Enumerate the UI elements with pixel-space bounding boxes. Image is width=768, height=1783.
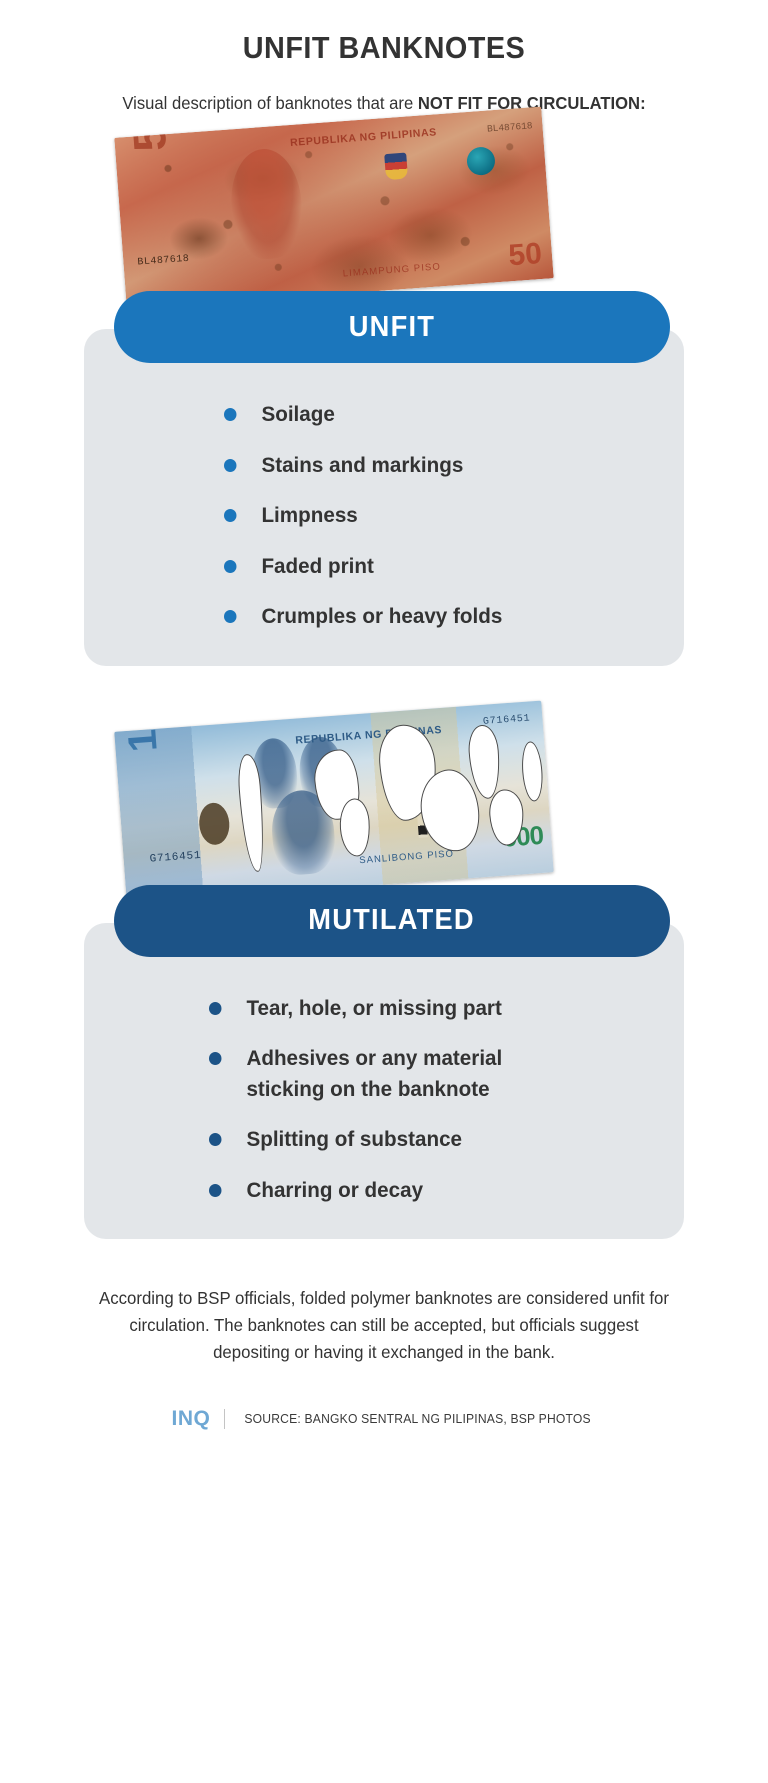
mutilated-card: MUTILATED Tear, hole, or missing part Ad…	[84, 923, 684, 1240]
list-item-label: Limpness	[261, 500, 357, 531]
list-item-label: Soilage	[261, 399, 334, 430]
source-row: INQ SOURCE: BANGKO SENTRAL NG PILIPINAS,…	[84, 1407, 684, 1431]
list-item: Stains and markings	[224, 450, 666, 481]
tear-hole	[488, 788, 526, 846]
list-item-label: Crumples or heavy folds	[261, 601, 502, 632]
list-item: Soilage	[224, 399, 666, 430]
tear-hole	[338, 797, 372, 857]
banknote-serial-left: G716451	[149, 849, 202, 865]
header: UNFIT BANKNOTES Visual description of ba…	[0, 0, 768, 114]
list-item: Crumples or heavy folds	[224, 601, 666, 632]
mutilated-banner: MUTILATED	[114, 885, 670, 957]
list-item-label: Splitting of substance	[246, 1124, 462, 1155]
list-item-label: Charring or decay	[246, 1175, 423, 1206]
banknote-serial-right: BL487618	[487, 120, 533, 134]
banknote-serial-right: G716451	[483, 713, 531, 727]
banknote-denomination-word: LIMAMPUNG PISO	[342, 261, 441, 279]
unfit-banner-label: UNFIT	[349, 311, 435, 344]
mutilated-banner-label: MUTILATED	[309, 904, 475, 937]
security-oval-icon	[198, 801, 231, 845]
bullet-icon	[224, 408, 236, 421]
list-item: Adhesives or any material sticking on th…	[209, 1043, 526, 1104]
unfit-list: Soilage Stains and markings Limpness Fad…	[84, 399, 684, 632]
portrait-illustration	[228, 147, 306, 262]
list-item-label: Faded print	[261, 551, 373, 582]
soiled-fifty-peso-banknote-image: 50 REPUBLIKA NG PILIPINAS BL487618 BL487…	[114, 107, 553, 310]
list-item: Charring or decay	[209, 1175, 665, 1206]
list-item: Limpness	[224, 500, 666, 531]
footnote-text: According to BSP officials, folded polym…	[96, 1285, 672, 1366]
list-item: Faded print	[224, 551, 666, 582]
banknote-denomination-left: 1000	[116, 700, 167, 753]
list-item-label: Stains and markings	[261, 450, 463, 481]
bullet-icon	[224, 459, 236, 472]
bullet-icon	[209, 1002, 221, 1015]
list-item-label: Adhesives or any material sticking on th…	[246, 1043, 525, 1104]
tear-hole	[418, 767, 482, 853]
mutilated-one-thousand-peso-banknote-image: 1000 REPUBLIKA NG PILIPINAS G716451 G716…	[114, 700, 553, 903]
bullet-icon	[224, 560, 236, 573]
inquirer-logo: INQ	[171, 1407, 210, 1431]
source-text: SOURCE: BANGKO SENTRAL NG PILIPINAS, BSP…	[245, 1412, 591, 1426]
banknote-denomination-word: SANLIBONG PISO	[359, 848, 454, 866]
bullet-icon	[209, 1184, 221, 1197]
bullet-icon	[224, 509, 236, 522]
section-mutilated: MUTILATED Tear, hole, or missing part Ad…	[0, 923, 768, 1240]
list-item-label: Tear, hole, or missing part	[246, 993, 501, 1024]
subtitle-lead: Visual description of banknotes that are	[122, 93, 417, 113]
page-title: UNFIT BANKNOTES	[27, 30, 741, 66]
banknote-serial-left: BL487618	[137, 254, 190, 269]
banknote-denomination-right: 50	[507, 237, 543, 273]
unfit-banner: UNFIT	[114, 291, 670, 363]
unfit-card: UNFIT Soilage Stains and markings Limpne…	[84, 329, 684, 666]
optical-patch-icon	[466, 146, 496, 176]
list-item: Splitting of substance	[209, 1124, 665, 1155]
banknote-denomination-left: 50	[120, 107, 177, 154]
list-item: Tear, hole, or missing part	[209, 993, 665, 1024]
coat-of-arms-icon	[384, 153, 408, 181]
banknote-republika-text: REPUBLIKA NG PILIPINAS	[290, 126, 437, 149]
page-subtitle: Visual description of banknotes that are…	[19, 93, 749, 114]
tear-hole	[520, 740, 544, 801]
infographic-page: UNFIT BANKNOTES Visual description of ba…	[0, 0, 768, 1783]
bullet-icon	[209, 1052, 221, 1065]
bullet-icon	[209, 1133, 221, 1146]
mutilated-list: Tear, hole, or missing part Adhesives or…	[84, 993, 684, 1206]
section-unfit: UNFIT Soilage Stains and markings Limpne…	[0, 329, 768, 666]
bullet-icon	[224, 610, 236, 623]
source-divider	[224, 1409, 225, 1429]
